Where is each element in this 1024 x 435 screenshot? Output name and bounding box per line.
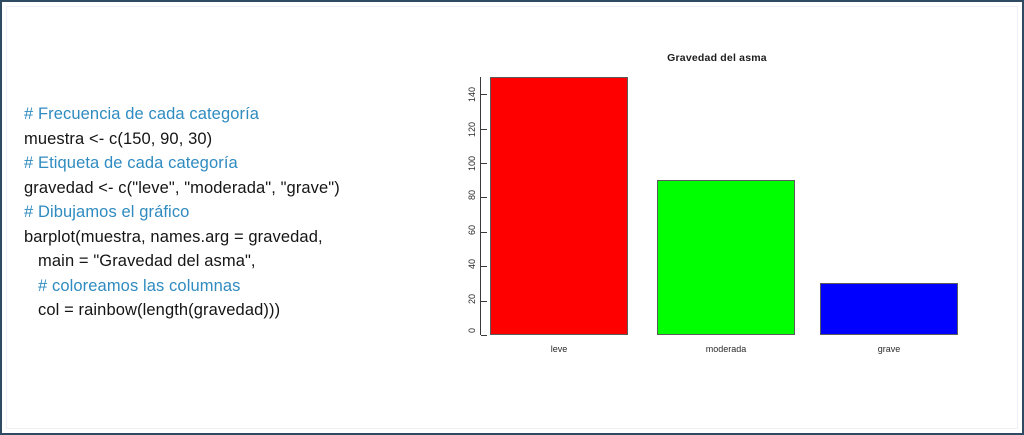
- code-line: barplot(muestra, names.arg = gravedad,: [24, 225, 424, 250]
- y-axis-tick-label: 80: [432, 191, 476, 201]
- y-axis-tick: [481, 301, 487, 302]
- code-line: # Etiqueta de cada categoría: [24, 151, 424, 176]
- y-axis-tick-label: 40: [432, 260, 476, 270]
- screenshot-frame: # Frecuencia de cada categoríamuestra <-…: [0, 0, 1024, 435]
- code-line: col = rainbow(length(gravedad))): [24, 298, 424, 323]
- r-code-block: # Frecuencia de cada categoríamuestra <-…: [24, 102, 424, 323]
- y-axis-tick: [481, 232, 487, 233]
- y-axis-tick-label: 140: [432, 88, 476, 98]
- y-axis-tick-label: 100: [432, 157, 476, 167]
- y-axis-tick: [481, 94, 487, 95]
- y-axis-line: [480, 77, 481, 335]
- y-axis-tick-label: 20: [432, 295, 476, 305]
- y-axis-tick: [481, 335, 487, 336]
- barplot-figure: Gravedad del asma 020406080100120140 lev…: [432, 32, 1002, 382]
- x-axis-label: leve: [490, 344, 628, 354]
- y-axis-tick: [481, 163, 487, 164]
- chart-title: Gravedad del asma: [432, 52, 1002, 64]
- bar-moderada: [657, 180, 795, 335]
- code-line: muestra <- c(150, 90, 30): [24, 127, 424, 152]
- y-axis-tick-label: 0: [432, 329, 476, 339]
- code-line: main = "Gravedad del asma",: [24, 249, 424, 274]
- code-line: # coloreamos las columnas: [24, 274, 424, 299]
- code-line: # Frecuencia de cada categoría: [24, 102, 424, 127]
- y-axis-tick: [481, 197, 487, 198]
- y-axis-tick-label: 120: [432, 123, 476, 133]
- y-axis-tick: [481, 266, 487, 267]
- bar-grave: [820, 283, 958, 335]
- y-axis-tick-label: 60: [432, 226, 476, 236]
- x-axis-label: moderada: [657, 344, 795, 354]
- bar-leve: [490, 77, 628, 335]
- code-line: gravedad <- c("leve", "moderada", "grave…: [24, 176, 424, 201]
- code-line: # Dibujamos el gráfico: [24, 200, 424, 225]
- x-axis-label: grave: [820, 344, 958, 354]
- y-axis-tick: [481, 129, 487, 130]
